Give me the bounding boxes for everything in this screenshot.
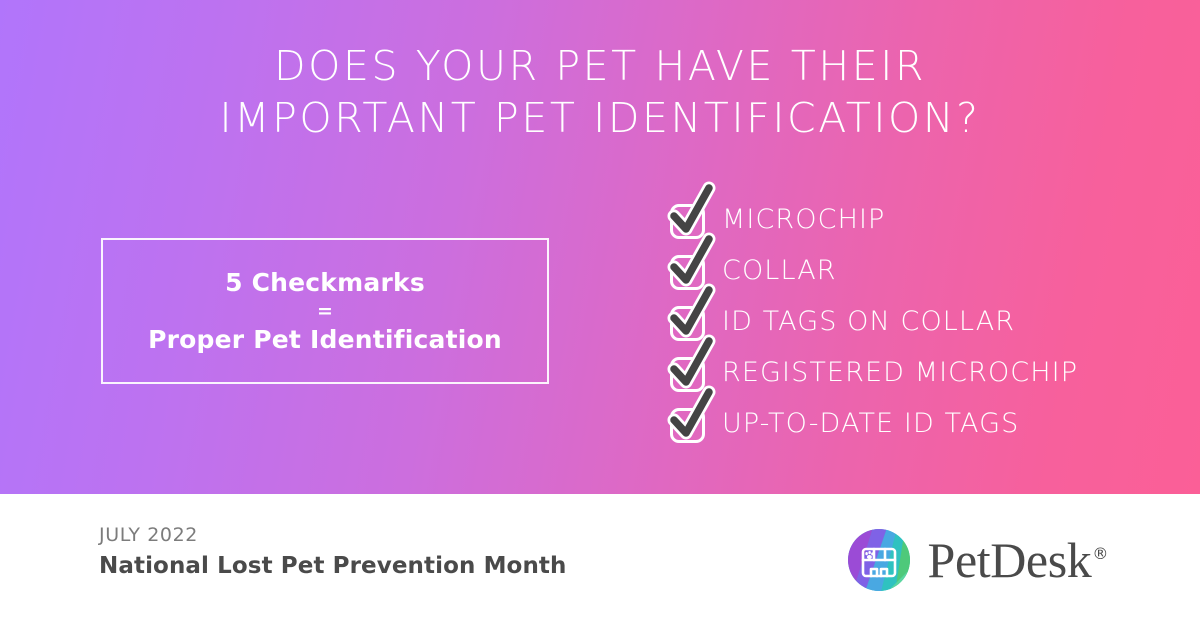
- checklist-item-up-to-date-id-tags[interactable]: Up-to-date ID tags: [668, 398, 1138, 449]
- checklist-item-id-tags-on-collar[interactable]: ID tags on collar: [668, 296, 1138, 347]
- footer-campaign-title: National Lost Pet Prevention Month: [99, 552, 567, 580]
- checklist-item-collar[interactable]: Collar: [668, 245, 1138, 296]
- checkbox-collar[interactable]: [668, 251, 708, 291]
- page-title: Does your pet have their Important pet i…: [0, 40, 1200, 144]
- footer-date: July 2022: [99, 523, 567, 547]
- callout-box: 5 Checkmarks = Proper Pet Identification: [101, 238, 549, 384]
- petdesk-logo[interactable]: PetDesk®: [847, 523, 1108, 597]
- registered-trademark-icon: ®: [1092, 544, 1108, 563]
- petdesk-wordmark: PetDesk®: [928, 535, 1108, 585]
- checklist: Microchip Collar ID tags on collar: [668, 194, 1138, 449]
- checklist-label: Collar: [722, 256, 837, 286]
- checkbox-registered-microchip[interactable]: [668, 353, 708, 393]
- checklist-item-registered-microchip[interactable]: Registered microchip: [668, 347, 1138, 398]
- footer-text-group: July 2022 National Lost Pet Prevention M…: [99, 523, 567, 580]
- checklist-item-microchip[interactable]: Microchip: [668, 194, 1138, 245]
- footer-bar: July 2022 National Lost Pet Prevention M…: [0, 494, 1200, 630]
- checklist-label: Microchip: [722, 205, 885, 235]
- checklist-label: Registered microchip: [722, 358, 1078, 388]
- callout-line-1: 5 Checkmarks: [225, 266, 425, 299]
- checkbox-microchip[interactable]: [668, 200, 708, 240]
- checklist-label: ID tags on collar: [722, 307, 1015, 337]
- petdesk-wordmark-text: PetDesk: [928, 532, 1092, 588]
- callout-equals: =: [317, 299, 333, 323]
- checkmark-icon: [665, 388, 717, 446]
- callout-line-3: Proper Pet Identification: [148, 323, 502, 356]
- checkbox-up-to-date-id-tags[interactable]: [668, 404, 708, 444]
- headline-line-2: Important pet identification?: [0, 92, 1200, 144]
- headline-line-1: Does your pet have their: [0, 40, 1200, 92]
- poster-canvas: Does your pet have their Important pet i…: [0, 0, 1200, 630]
- petdesk-badge-icon: [847, 528, 911, 592]
- checkbox-id-tags-on-collar[interactable]: [668, 302, 708, 342]
- checklist-label: Up-to-date ID tags: [722, 409, 1019, 439]
